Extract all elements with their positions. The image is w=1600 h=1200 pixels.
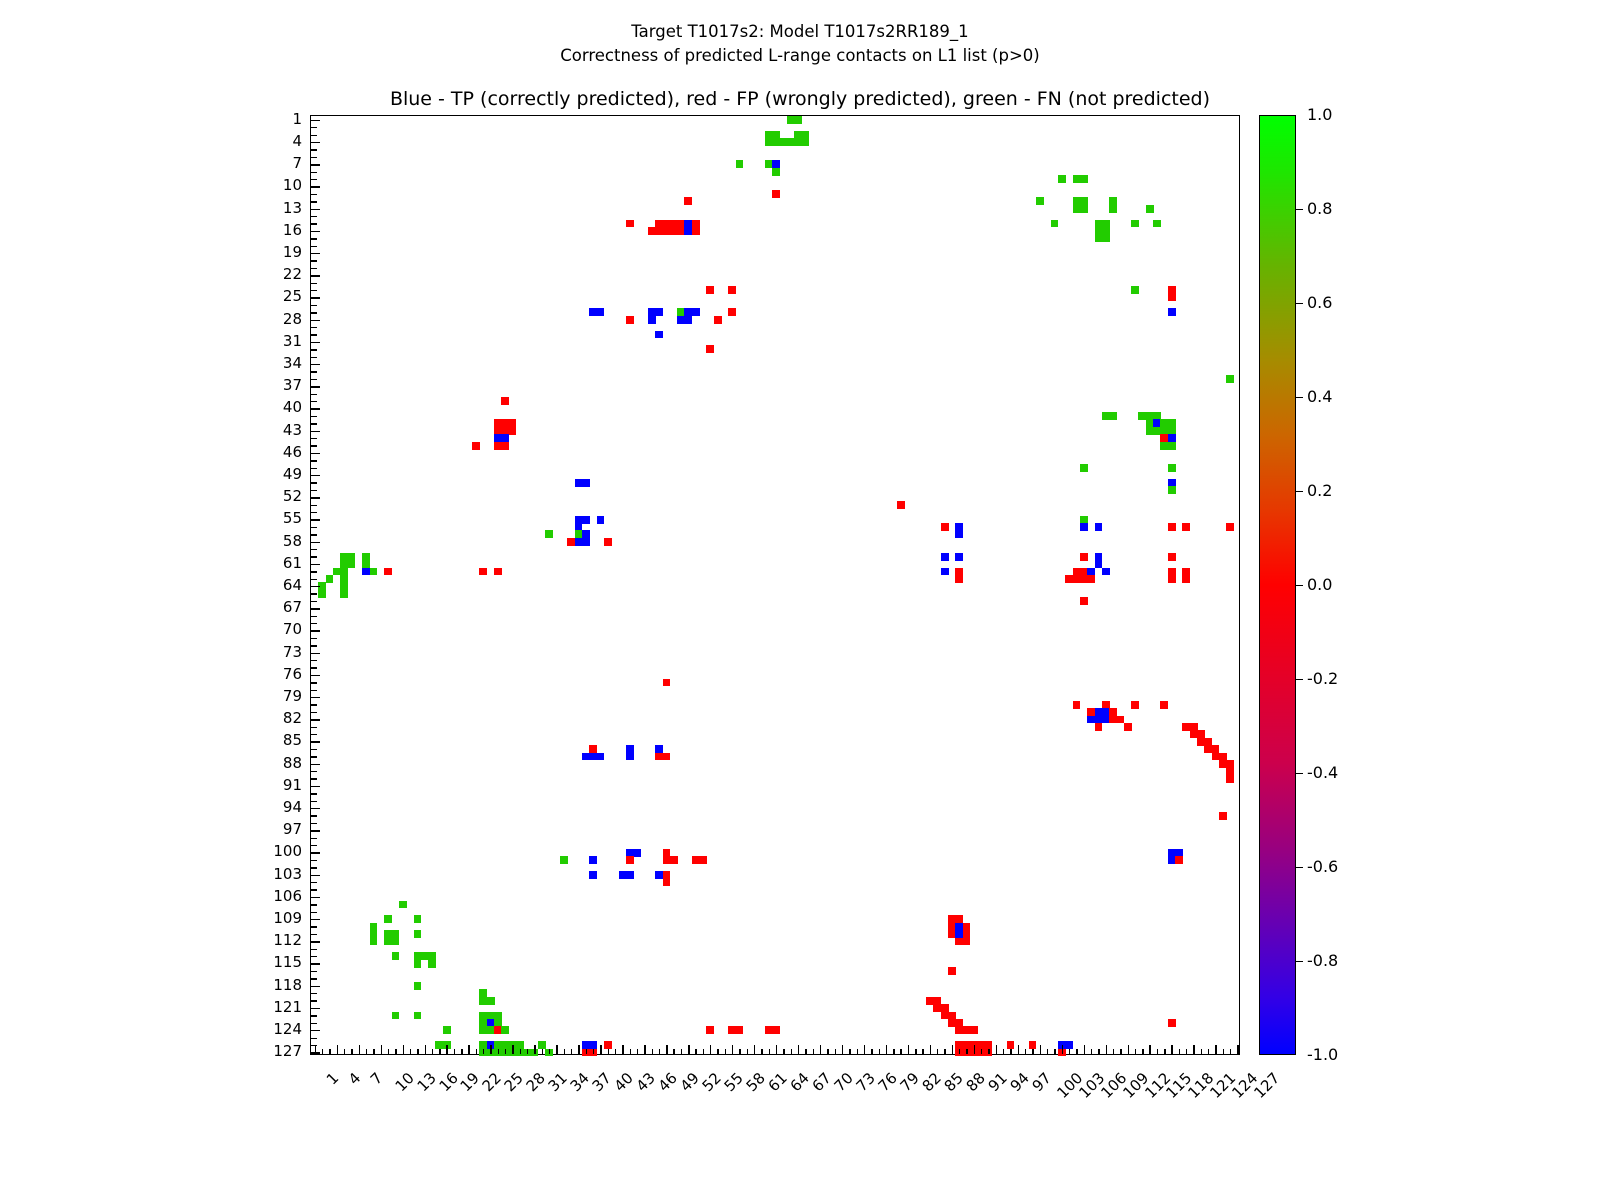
colorbar-tick <box>1296 585 1303 586</box>
colorbar-tick-label: -0.8 <box>1307 951 1338 970</box>
figure-root: Target T1017s2: Model T1017s2RR189_1 Cor… <box>0 0 1600 1200</box>
colorbar-tick-label: 0.0 <box>1307 575 1332 594</box>
colorbar-tick-label: 0.2 <box>1307 481 1332 500</box>
colorbar-tick-label: -0.6 <box>1307 857 1338 876</box>
colorbar-tick-label: -0.4 <box>1307 763 1338 782</box>
colorbar-tick <box>1296 397 1303 398</box>
colorbar-tick <box>1296 867 1303 868</box>
colorbar-tick-labels: 1.00.80.60.40.20.0-0.2-0.4-0.6-0.8-1.0 <box>0 0 1600 1200</box>
colorbar-tick-label: -0.2 <box>1307 669 1338 688</box>
colorbar-tick <box>1296 491 1303 492</box>
colorbar-tick-label: -1.0 <box>1307 1045 1338 1064</box>
colorbar-tick-label: 1.0 <box>1307 105 1332 124</box>
colorbar-tick <box>1296 303 1303 304</box>
colorbar-tick-label: 0.4 <box>1307 387 1332 406</box>
colorbar-tick <box>1296 961 1303 962</box>
colorbar-tick <box>1296 209 1303 210</box>
colorbar-tick-label: 0.6 <box>1307 293 1332 312</box>
colorbar-tick <box>1296 679 1303 680</box>
colorbar-tick-label: 0.8 <box>1307 199 1332 218</box>
colorbar-tick <box>1296 773 1303 774</box>
